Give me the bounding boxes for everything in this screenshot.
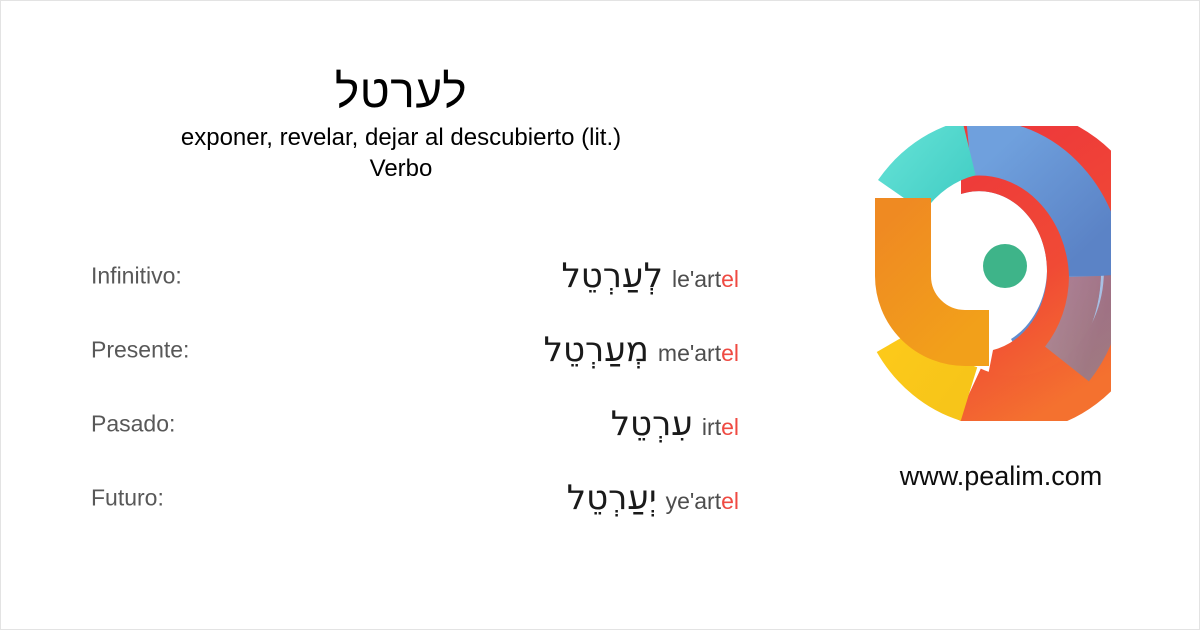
hebrew-form-infinitivo: לְעַרְטֵל — [561, 256, 663, 296]
hebrew-form-futuro: יְעַרְטֵל — [567, 478, 657, 518]
row-label-presente: Presente: — [91, 337, 189, 364]
table-row: Presente: מְעַרְטֵל me'artel — [1, 313, 801, 387]
pealim-verb-card: לערטל exponer, revelar, dejar al descubi… — [0, 0, 1200, 630]
row-forms-infinitivo: לְעַרְטֵל le'artel — [561, 256, 739, 296]
transliteration-futuro: ye'artel — [666, 486, 739, 516]
translit-base: ye'art — [666, 488, 722, 514]
transliteration-infinitivo: le'artel — [672, 264, 739, 294]
translit-base: le'art — [672, 266, 721, 292]
part-of-speech: Verbo — [1, 153, 801, 184]
translit-base: irt — [702, 414, 721, 440]
row-forms-pasado: עִרְטֵל irtel — [611, 404, 739, 444]
hebrew-form-presente: מְעַרְטֵל — [544, 330, 649, 370]
pealim-logo-icon — [861, 126, 1111, 421]
transliteration-presente: me'artel — [658, 338, 739, 368]
row-label-futuro: Futuro: — [91, 485, 164, 512]
verb-info-column: לערטל exponer, revelar, dejar al descubi… — [1, 1, 801, 630]
headword-hebrew: לערטל — [1, 63, 801, 119]
logo-green-dot — [983, 244, 1027, 288]
table-row: Futuro: יְעַרְטֵל ye'artel — [1, 461, 801, 535]
translit-stress: el — [721, 414, 739, 440]
verb-translation: exponer, revelar, dejar al descubierto (… — [1, 122, 801, 153]
translit-stress: el — [721, 266, 739, 292]
row-forms-presente: מְעַרְטֵל me'artel — [544, 330, 739, 370]
site-url[interactable]: www.pealim.com — [801, 459, 1200, 493]
row-label-pasado: Pasado: — [91, 411, 175, 438]
table-row: Pasado: עִרְטֵל irtel — [1, 387, 801, 461]
table-row: Infinitivo: לְעַרְטֵל le'artel — [1, 239, 801, 313]
branding-column: www.pealim.com — [801, 1, 1200, 630]
hebrew-form-pasado: עִרְטֵל — [611, 404, 693, 444]
conjugation-table: Infinitivo: לְעַרְטֵל le'artel Presente:… — [1, 239, 801, 535]
transliteration-pasado: irtel — [702, 412, 739, 442]
row-forms-futuro: יְעַרְטֵל ye'artel — [567, 478, 739, 518]
translit-stress: el — [721, 340, 739, 366]
verb-header: לערטל exponer, revelar, dejar al descubi… — [1, 63, 801, 184]
translit-stress: el — [721, 488, 739, 514]
translit-base: me'art — [658, 340, 721, 366]
row-label-infinitivo: Infinitivo: — [91, 263, 182, 290]
